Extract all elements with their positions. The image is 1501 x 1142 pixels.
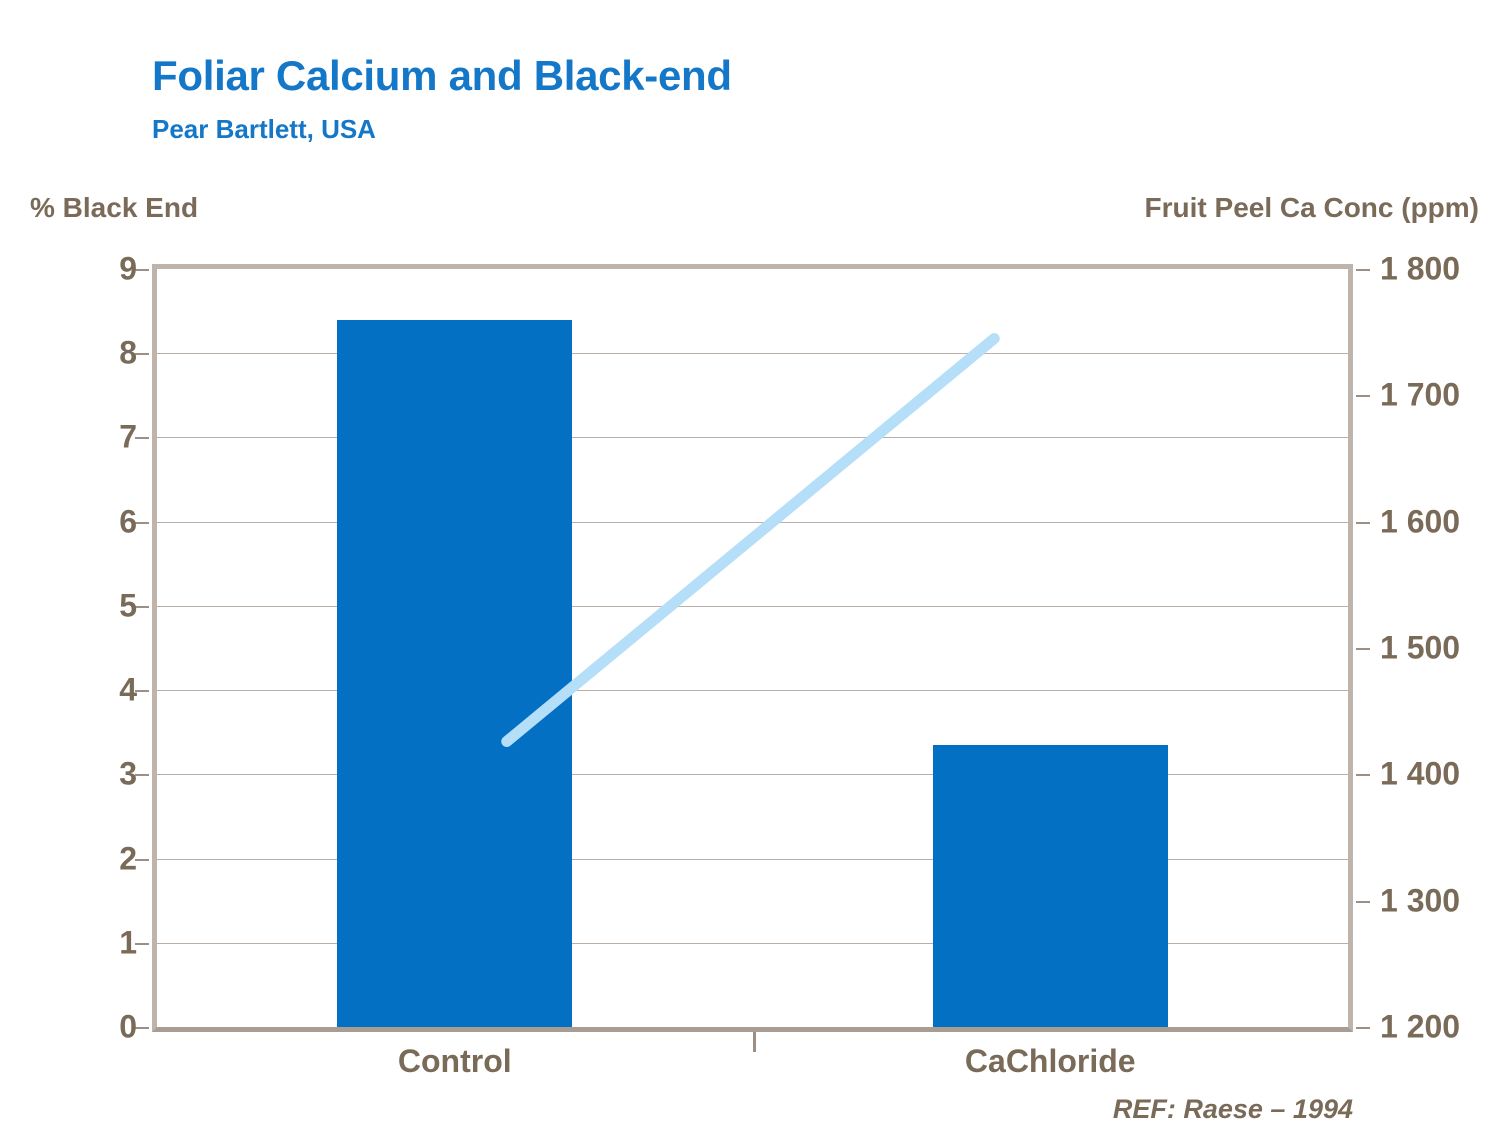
y2-axis-tick-label: 1 300 [1380, 882, 1460, 919]
y-axis-tick-label: 6 [119, 503, 137, 540]
y-axis-tick-label: 4 [119, 672, 137, 709]
page-title: Foliar Calcium and Black-end [152, 52, 732, 100]
y-axis-tick-label: 2 [119, 840, 137, 877]
y2-axis-tick-label: 1 600 [1380, 503, 1460, 540]
x-axis-category-label: CaChloride [965, 1043, 1136, 1080]
plot-area [157, 269, 1348, 1027]
y-axis-tick [135, 353, 149, 355]
ca-concentration-line [507, 338, 995, 741]
y-axis-tick [135, 943, 149, 945]
y-axis-tick [135, 606, 149, 608]
y2-axis-tick [1356, 648, 1370, 650]
right-axis-title: Fruit Peel Ca Conc (ppm) [1145, 192, 1479, 224]
y2-axis-tick [1356, 269, 1370, 271]
y-axis-tick-label: 9 [119, 251, 137, 288]
y-axis-tick-label: 0 [119, 1009, 137, 1046]
y2-axis-tick [1356, 774, 1370, 776]
line-series-layer [157, 269, 1348, 1027]
y2-axis-tick [1356, 395, 1370, 397]
y-axis-tick [135, 522, 149, 524]
y-axis-tick [135, 1027, 149, 1029]
y-axis-tick [135, 437, 149, 439]
y2-axis-tick-label: 1 400 [1380, 756, 1460, 793]
x-axis-tick [753, 1032, 756, 1052]
reference-note: REF: Raese – 1994 [1113, 1094, 1353, 1125]
y2-axis-tick [1356, 901, 1370, 903]
y2-axis-tick-label: 1 500 [1380, 630, 1460, 667]
y2-axis-tick-label: 1 700 [1380, 377, 1460, 414]
y-axis-tick-label: 8 [119, 335, 137, 372]
page-subtitle: Pear Bartlett, USA [152, 114, 376, 145]
y-axis-tick-label: 5 [119, 587, 137, 624]
y-axis-tick [135, 269, 149, 271]
y-axis-tick-label: 1 [119, 924, 137, 961]
y2-axis-tick [1356, 522, 1370, 524]
y-axis-tick [135, 859, 149, 861]
y-axis-tick-label: 3 [119, 756, 137, 793]
y-axis-tick-label: 7 [119, 419, 137, 456]
y2-axis-tick [1356, 1027, 1370, 1029]
y-axis-tick [135, 774, 149, 776]
x-axis-category-label: Control [398, 1043, 512, 1080]
y2-axis-tick-label: 1 800 [1380, 251, 1460, 288]
left-axis-title: % Black End [30, 192, 198, 224]
y2-axis-tick-label: 1 200 [1380, 1009, 1460, 1046]
